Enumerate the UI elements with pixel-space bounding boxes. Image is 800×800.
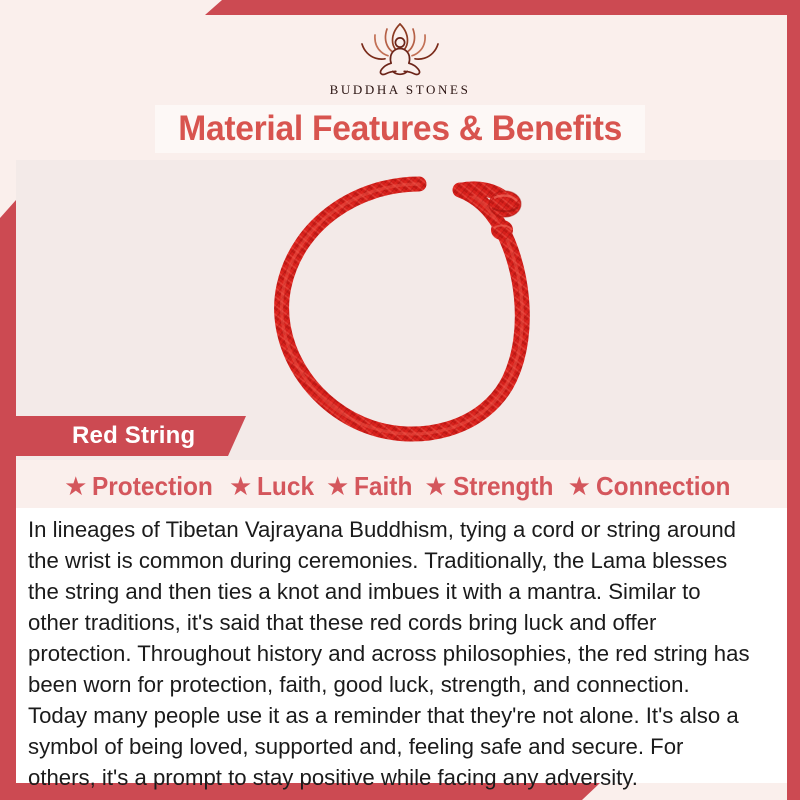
- material-tag: Red String: [16, 416, 246, 456]
- star-icon: ★: [64, 473, 87, 499]
- star-icon: ★: [229, 473, 252, 499]
- benefit-item-faith: ★ Faith: [326, 471, 416, 502]
- lotus-meditation-icon: [348, 15, 452, 81]
- benefit-label: Protection: [92, 471, 213, 502]
- description-text: In lineages of Tibetan Vajrayana Buddhis…: [28, 514, 754, 793]
- benefit-item-protection: ★ Protection: [64, 471, 221, 502]
- product-image-stage: [16, 160, 787, 460]
- infographic-poster: BUDDHA STONES Material Features & Benefi…: [0, 0, 800, 800]
- benefit-label: Luck: [257, 471, 314, 502]
- benefit-item-luck: ★ Luck: [229, 471, 318, 502]
- star-icon: ★: [326, 473, 349, 499]
- decorative-top-bar: [205, 0, 800, 15]
- benefit-label: Strength: [453, 471, 553, 502]
- brand-name: BUDDHA STONES: [330, 82, 471, 98]
- benefit-label: Faith: [354, 471, 412, 502]
- benefit-label: Connection: [596, 471, 730, 502]
- brand-header: BUDDHA STONES: [0, 15, 800, 105]
- red-string-braided-bracelet-image: [264, 168, 564, 453]
- description-panel: In lineages of Tibetan Vajrayana Buddhis…: [16, 508, 787, 783]
- star-icon: ★: [568, 473, 591, 499]
- decorative-left-edge: [0, 200, 16, 785]
- material-tag-label: Red String: [72, 422, 195, 450]
- decorative-right-edge: [787, 0, 800, 800]
- title-banner: Material Features & Benefits: [155, 105, 645, 153]
- page-title: Material Features & Benefits: [178, 109, 622, 149]
- benefit-item-connection: ★ Connection: [568, 471, 739, 502]
- star-icon: ★: [424, 473, 447, 499]
- benefits-row: ★ Protection ★ Luck ★ Faith ★ Strength ★…: [16, 464, 787, 508]
- benefit-item-strength: ★ Strength: [424, 471, 559, 502]
